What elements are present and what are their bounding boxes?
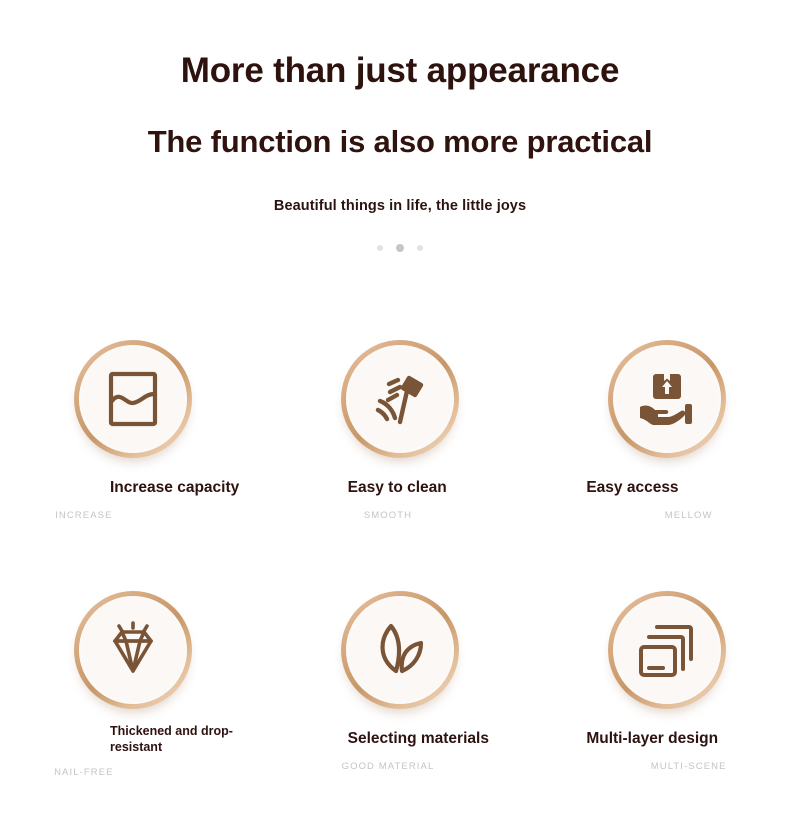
- feature-title: Increase capacity: [0, 458, 267, 498]
- carousel-dot-2-active[interactable]: [396, 244, 404, 252]
- carousel-dots[interactable]: [0, 214, 800, 252]
- feature-subtitle: INCREASE: [0, 498, 267, 521]
- diamond-sparkle-icon: [101, 621, 165, 679]
- feature-subtitle: GOOD MATERIAL: [267, 749, 534, 772]
- feature-card-easy-access[interactable]: Easy access MELLOW: [533, 330, 800, 565]
- hero-headline-primary: More than just appearance: [0, 52, 800, 91]
- carousel-dot-1[interactable]: [377, 245, 383, 251]
- feature-card-increase-capacity[interactable]: Increase capacity INCREASE: [0, 330, 267, 565]
- capacity-container-icon: [106, 370, 160, 428]
- feature-icon-wrap: [0, 581, 267, 709]
- stacked-layers-icon: [637, 621, 697, 679]
- carousel-dot-3[interactable]: [417, 245, 423, 251]
- feature-icon-wrap: [267, 330, 534, 458]
- hero-headline-secondary: The function is also more practical: [0, 91, 800, 159]
- feature-subtitle: MELLOW: [533, 498, 800, 521]
- feature-subtitle: NAIL-FREE: [0, 755, 267, 778]
- feature-title: Thickened and drop-resistant: [0, 709, 245, 755]
- hand-holding-box-icon: [636, 371, 698, 427]
- feature-icon-wrap: [267, 581, 534, 709]
- two-leaves-icon: [369, 621, 431, 679]
- feature-card-easy-to-clean[interactable]: Easy to clean SMOOTH: [267, 330, 534, 565]
- feature-card-drop-resistant[interactable]: Thickened and drop-resistant NAIL-FREE: [0, 581, 267, 816]
- feature-card-selecting-materials[interactable]: Selecting materials GOOD MATERIAL: [267, 581, 534, 816]
- cleaning-wipe-icon: [369, 368, 431, 430]
- feature-title: Easy to clean: [267, 458, 534, 498]
- feature-subtitle: MULTI-SCENE: [533, 749, 800, 772]
- feature-icon-circle: [341, 591, 459, 709]
- feature-icon-circle: [608, 340, 726, 458]
- feature-title: Multi-layer design: [533, 709, 800, 749]
- feature-subtitle: SMOOTH: [267, 498, 534, 521]
- promo-page: More than just appearance The function i…: [0, 0, 800, 800]
- feature-title: Selecting materials: [267, 709, 534, 749]
- feature-icon-circle: [74, 340, 192, 458]
- feature-grid: Increase capacity INCREASE: [0, 330, 800, 816]
- hero-subtitle: Beautiful things in life, the little joy…: [0, 159, 800, 214]
- feature-icon-circle: [74, 591, 192, 709]
- feature-icon-circle: [341, 340, 459, 458]
- feature-icon-wrap: [0, 330, 267, 458]
- hero-section: More than just appearance The function i…: [0, 0, 800, 252]
- feature-card-multi-layer-design[interactable]: Multi-layer design MULTI-SCENE: [533, 581, 800, 816]
- feature-icon-circle: [608, 591, 726, 709]
- feature-icon-wrap: [533, 581, 800, 709]
- feature-title: Easy access: [533, 458, 800, 498]
- feature-icon-wrap: [533, 330, 800, 458]
